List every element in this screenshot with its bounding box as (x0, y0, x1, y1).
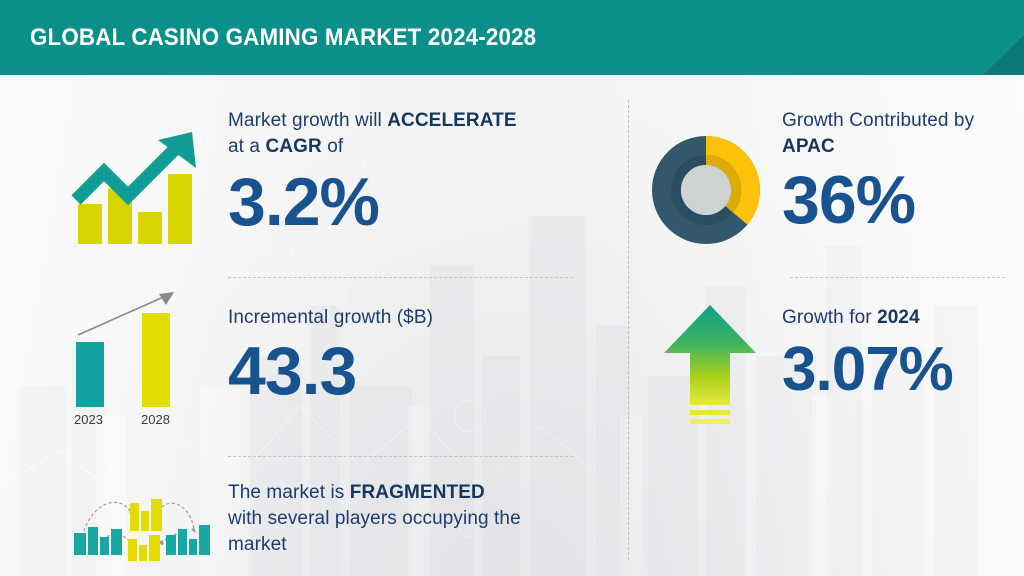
incremental-growth-value: 43.3 (228, 337, 608, 405)
growth-2024-lead-text: Growth for 2024 (782, 305, 1022, 331)
fragmentation-line1-pre: The market is (228, 482, 350, 503)
infographic-page: GLOBAL CASINO GAMING MARKET 2024-2028 20… (0, 0, 1024, 576)
stat-block-cagr: Market growth will ACCELERATE at a CAGR … (228, 108, 608, 236)
donut-chart-icon (652, 136, 760, 244)
buildings-network-icon (58, 485, 213, 565)
fragmentation-line2: with several players occupying the (228, 508, 521, 529)
bar-label-2028: 2028 (141, 412, 170, 427)
apac-value: 36% (782, 166, 1022, 234)
apac-region-label: APAC (782, 136, 835, 157)
cagr-lead-line2-post: of (322, 136, 343, 157)
cagr-lead-line2-pre: at a (228, 136, 265, 157)
stat-block-growth-2024: Growth for 2024 3.07% (782, 305, 1022, 401)
vertical-divider (628, 100, 629, 560)
growth-arrow-chart-icon (66, 126, 206, 252)
stat-block-apac: Growth Contributed by APAC 36% (782, 108, 1022, 234)
horizontal-divider-left-top (228, 277, 573, 278)
cagr-lead-line1-pre: Market growth will (228, 110, 387, 131)
bar-comparison-icon: 2023 2028 (56, 285, 206, 445)
cagr-lead-cagr: CAGR (265, 136, 321, 157)
cagr-value: 3.2% (228, 168, 608, 236)
horizontal-divider-right (790, 277, 1005, 278)
cagr-lead-accelerate: ACCELERATE (387, 110, 516, 131)
cagr-lead-text: Market growth will ACCELERATE at a CAGR … (228, 108, 608, 160)
incremental-growth-label: Incremental growth ($B) (228, 305, 608, 331)
page-title: GLOBAL CASINO GAMING MARKET 2024-2028 (30, 24, 536, 52)
fragmentation-keyword: FRAGMENTED (350, 482, 485, 503)
stat-block-fragmentation: The market is FRAGMENTED with several pl… (228, 480, 618, 558)
horizontal-divider-left-bottom (228, 456, 573, 457)
stat-block-incremental-growth: Incremental growth ($B) 43.3 (228, 305, 608, 405)
growth-2024-year: 2024 (877, 307, 920, 328)
growth-2024-lead-pre: Growth for (782, 307, 877, 328)
growth-2024-value: 3.07% (782, 339, 1022, 401)
fragmentation-text: The market is FRAGMENTED with several pl… (228, 480, 618, 558)
up-arrow-icon (662, 303, 758, 435)
fragmentation-line3: market (228, 534, 287, 555)
apac-lead-text: Growth Contributed by APAC (782, 108, 1022, 160)
bar-label-2023: 2023 (74, 412, 103, 427)
apac-lead-line1: Growth Contributed by (782, 110, 974, 131)
